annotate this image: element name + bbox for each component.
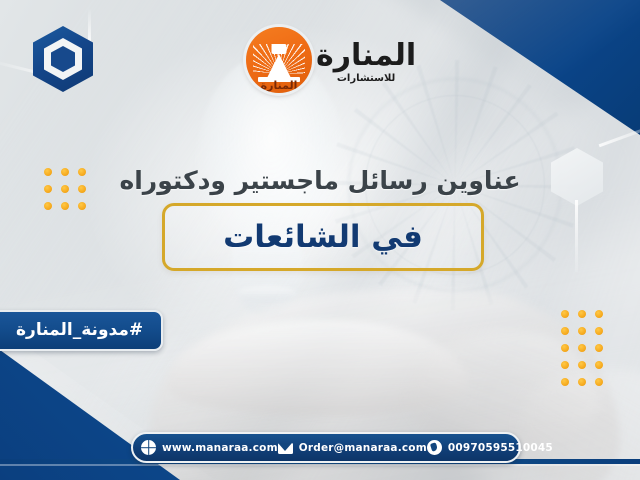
boxed-title-container: في الشائعات [162,203,484,271]
boxed-title-text: في الشائعات [223,219,423,255]
dot [561,361,569,369]
lighthouse-logo-icon: المنارة [246,27,312,93]
hashtag-badge: #مدونة_المنارة [0,310,163,351]
email-text: Order@manaraa.com [299,442,427,454]
dot [44,202,52,210]
dot [78,202,86,210]
dot [578,361,586,369]
brand-logo: المنارة للاستشارات المنارة [246,22,396,98]
background-light-streak [355,69,640,480]
website-text: www.manaraa.com [162,442,278,454]
connector-line [575,200,578,272]
headline-text: عناوين رسائل ماجستير ودكتوراه [0,166,640,195]
dot [561,327,569,335]
brand-tagline: للاستشارات [337,74,395,84]
contact-phone[interactable]: 00970595510045 [427,440,553,455]
contact-website[interactable]: www.manaraa.com [141,440,278,455]
dot [595,361,603,369]
dot [578,378,586,386]
dot [561,344,569,352]
contact-bar: www.manaraa.com Order@manaraa.com 009705… [131,432,521,463]
dot [578,344,586,352]
dot [578,310,586,318]
dot [595,344,603,352]
envelope-icon [278,443,293,454]
dot [61,202,69,210]
phone-text: 00970595510045 [448,442,553,454]
contact-email[interactable]: Order@manaraa.com [278,442,427,454]
globe-icon [141,440,156,455]
dot [561,378,569,386]
dot [595,378,603,386]
connector-line [88,8,91,44]
dot [595,327,603,335]
lightbulb-ring-image [238,286,296,302]
brand-name: المنارة [316,41,416,71]
dot-grid-right [561,310,603,386]
hand-fingers-image [168,320,468,416]
brand-wordmark: المنارة للاستشارات [316,41,416,84]
hexagon-icon [33,26,93,92]
promo-banner: المنارة للاستشارات المنارة عناوين رسائل … [0,0,640,480]
badge-brand-name: المنارة [261,79,298,92]
dot [578,327,586,335]
dot [595,310,603,318]
dot [561,310,569,318]
top-right-corner-sheen [440,0,640,135]
lighthouse-lamp-icon [272,44,287,54]
whatsapp-icon [427,440,442,455]
